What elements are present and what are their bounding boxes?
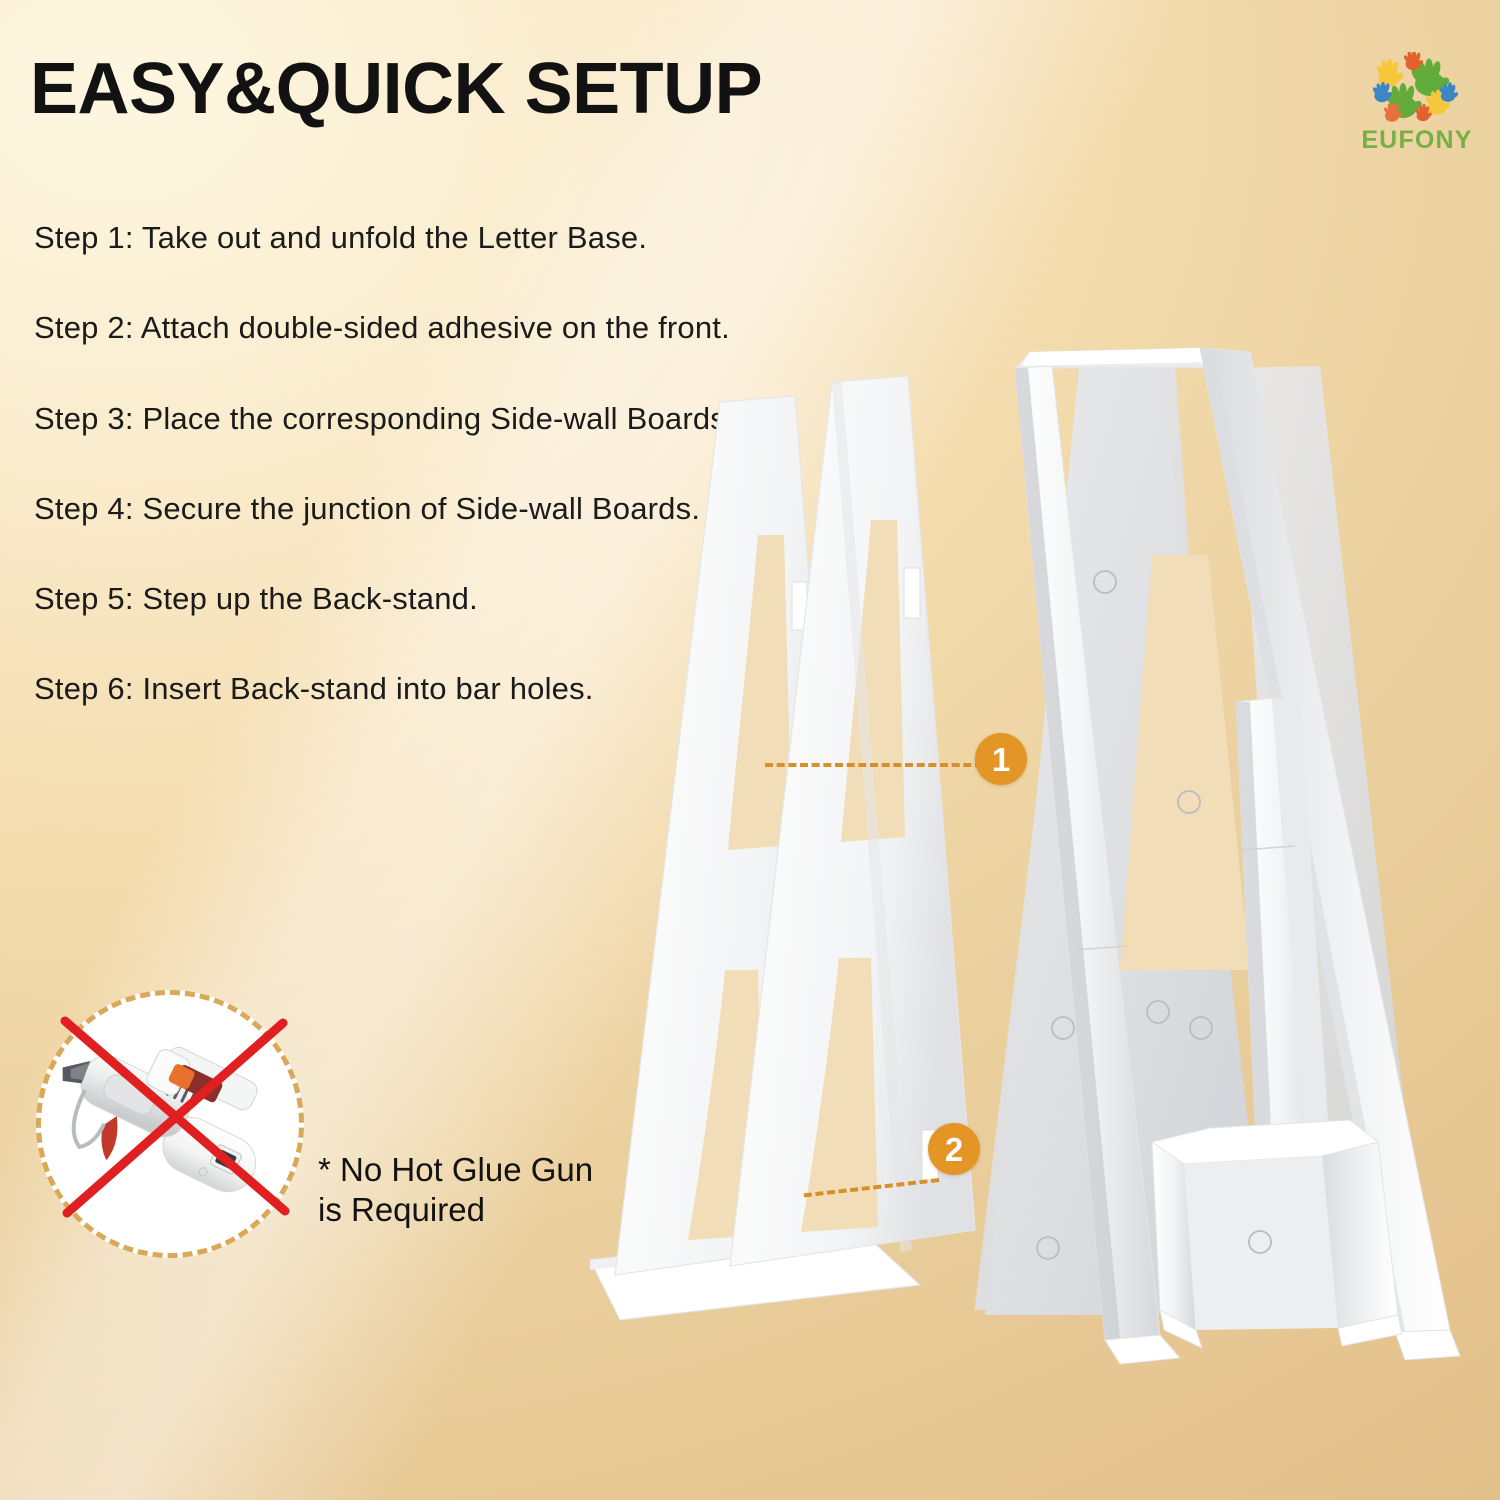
letter-a-assembly-diagram — [560, 330, 1500, 1390]
step-item-1: Step 1: Take out and unfold the Letter B… — [34, 218, 794, 258]
letter-a-crossbar-piece — [1152, 1120, 1402, 1348]
handprints-circle-icon — [1360, 52, 1472, 130]
page-title: EASY&QUICK SETUP — [30, 48, 762, 130]
instruction-page: EASY&QUICK SETUP — [0, 0, 1500, 1500]
no-hot-glue-gun-label-line1: * No Hot Glue Gun — [318, 1150, 598, 1190]
no-hot-glue-gun-label: * No Hot Glue Gun is Required — [318, 1150, 598, 1231]
no-hot-glue-gun-notice: * No Hot Glue Gun is Required — [36, 990, 596, 1280]
callout-leader-1 — [765, 763, 983, 767]
brand-name: EUFONY — [1352, 126, 1482, 155]
brand-logo: EUFONY — [1352, 52, 1482, 167]
callout-marker-1: 1 — [975, 733, 1027, 785]
callout-marker-2: 2 — [928, 1123, 980, 1175]
glue-gun-illustration — [51, 1005, 299, 1253]
no-hot-glue-gun-label-line2: is Required — [318, 1190, 598, 1230]
no-hot-glue-gun-icon — [36, 990, 304, 1258]
